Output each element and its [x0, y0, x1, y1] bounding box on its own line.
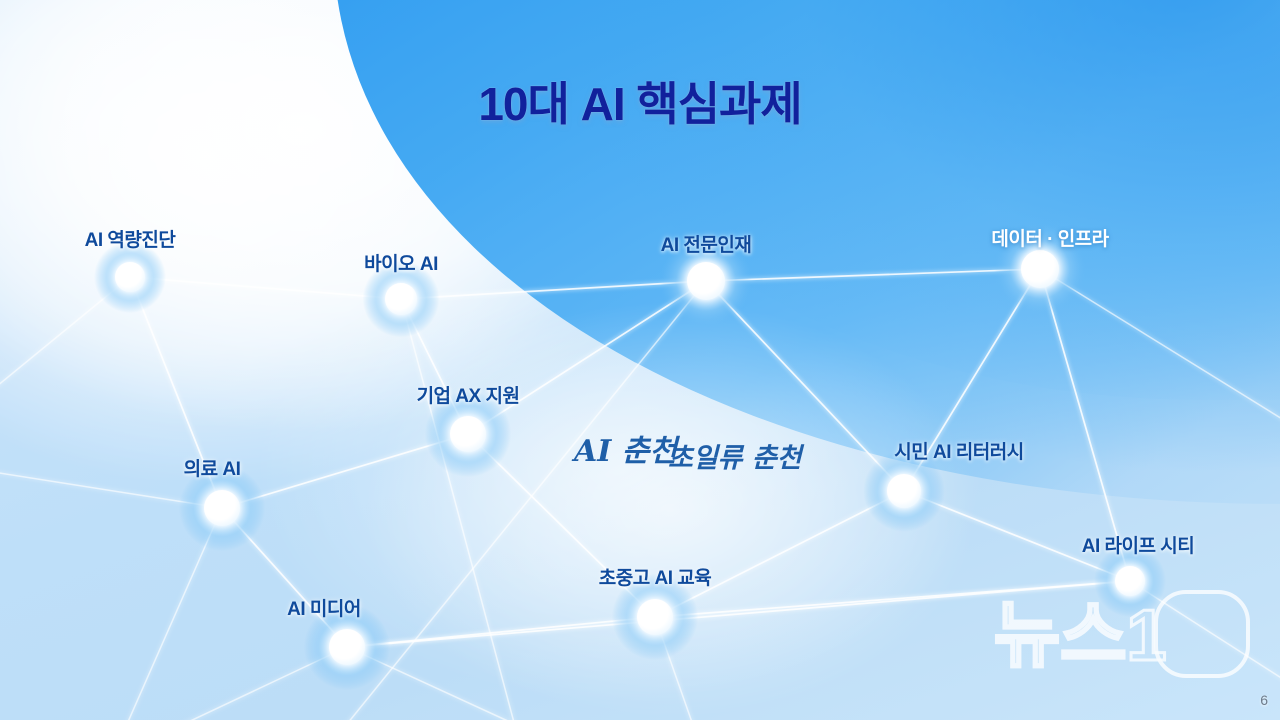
- node-label-civic-literacy: 시민 AI 리터러시: [894, 437, 1023, 464]
- news1-watermark: 뉴스1: [988, 584, 1258, 684]
- node-label-ai-life-city: AI 라이프 시티: [1082, 531, 1194, 558]
- brand-logo-line2: 초일류 춘천: [668, 443, 805, 474]
- network-edge: [130, 277, 401, 299]
- page-number: 6: [1260, 692, 1268, 708]
- node-core: [637, 599, 673, 635]
- node-core: [687, 262, 725, 300]
- news1-watermark-text: 뉴스1: [994, 596, 1167, 676]
- node-core: [385, 283, 417, 315]
- node-label-ai-capability: AI 역량진단: [85, 225, 176, 252]
- node-label-ai-media: AI 미디어: [287, 594, 361, 621]
- node-label-corporate-ax: 기업 AX 지원: [417, 381, 520, 408]
- page-title: 10대 AI 핵심과제: [0, 68, 1280, 134]
- news1-watermark-badge: [1156, 592, 1248, 676]
- node-core: [329, 629, 365, 665]
- node-label-k12-ai-edu: 초중고 AI 교육: [599, 563, 711, 590]
- node-core: [115, 262, 145, 292]
- node-core: [887, 474, 921, 508]
- node-label-medical-ai: 의료 AI: [184, 454, 241, 481]
- node-core: [450, 416, 486, 452]
- slide-canvas: 10대 AI 핵심과제 AI 역량진단바이오 AIAI 전문인재데이터 · 인프…: [0, 0, 1280, 720]
- node-core: [204, 490, 240, 526]
- brand-logo: AI 춘천 초일류 춘천: [572, 425, 802, 485]
- node-label-bio-ai: 바이오 AI: [364, 249, 438, 276]
- node-label-data-infra: 데이터 · 인프라: [991, 224, 1108, 251]
- node-label-ai-talent: AI 전문인재: [661, 230, 752, 257]
- node-core: [1021, 250, 1059, 288]
- brand-logo-line1: AI 춘천: [571, 434, 680, 469]
- network-edge: [706, 269, 1040, 281]
- network-edge: [401, 281, 706, 299]
- network-edge: [401, 299, 520, 720]
